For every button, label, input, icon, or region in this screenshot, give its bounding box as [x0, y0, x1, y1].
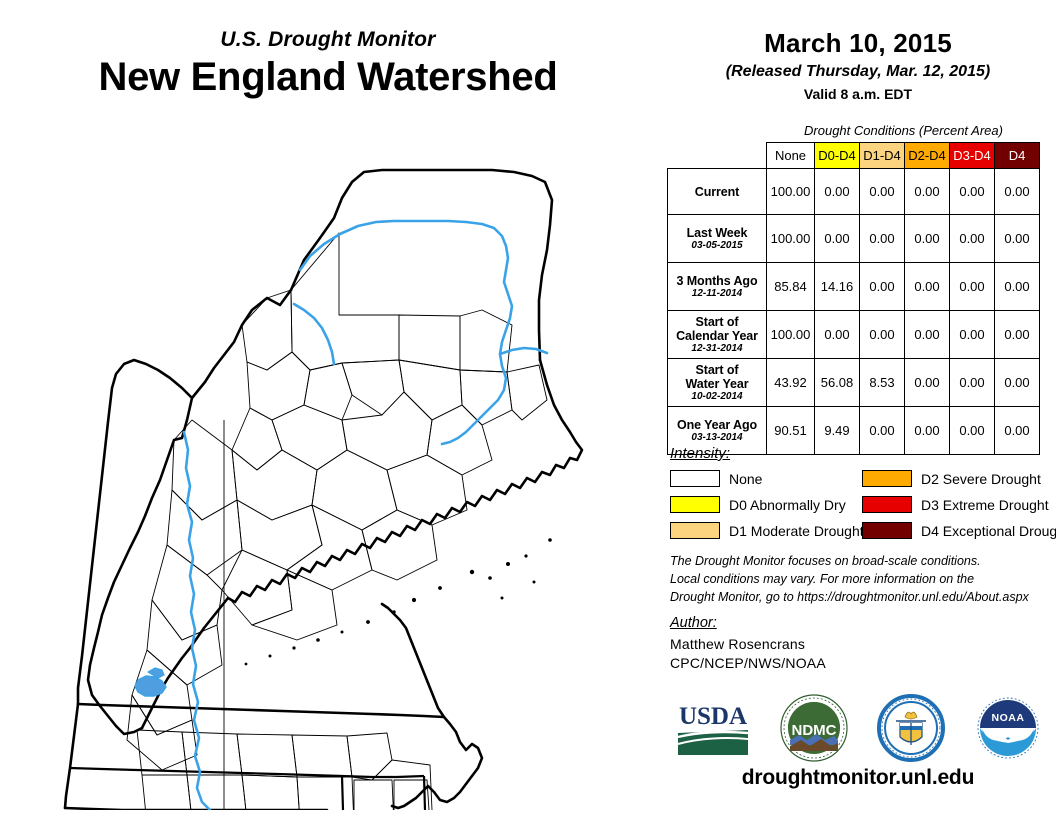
table-cell: 0.00 [950, 215, 995, 263]
author-block: Author: Matthew Rosencrans CPC/NCEP/NWS/… [670, 615, 1050, 673]
table-cell: 14.16 [815, 263, 860, 311]
row-label: Current [668, 169, 767, 215]
table-cell: 0.00 [815, 169, 860, 215]
legend-label: D4 Exceptional Drought [921, 523, 1056, 539]
legend-swatch [862, 470, 912, 487]
release-date: (Released Thursday, Mar. 12, 2015) [660, 63, 1056, 81]
row-label-date: 10-02-2014 [668, 391, 766, 402]
drought-conditions-table: None D0-D4 D1-D4 D2-D4 D3-D4 D4 Current1… [667, 142, 1040, 455]
row-label-title: Current [668, 185, 766, 199]
row-label: 3 Months Ago12-11-2014 [668, 263, 767, 311]
noaa-logo: NOAA [973, 693, 1043, 763]
table-cell: 0.00 [950, 311, 995, 359]
drought-map[interactable] [42, 120, 656, 810]
drought-monitor-page: U.S. Drought Monitor New England Watersh… [0, 0, 1056, 816]
date-block: March 10, 2015 (Released Thursday, Mar. … [660, 28, 1056, 102]
table-cell: 0.00 [905, 359, 950, 407]
header-corner-blank [668, 143, 767, 169]
intensity-title: Intensity: [670, 445, 1050, 462]
table-cell: 56.08 [815, 359, 860, 407]
legend-label: D2 Severe Drought [921, 471, 1041, 487]
report-date: March 10, 2015 [660, 28, 1056, 59]
column-header-d3-d4: D3-D4 [950, 143, 995, 169]
row-label-date: 12-11-2014 [668, 288, 766, 299]
commerce-seal-logo [876, 693, 946, 763]
legend-label: D3 Extreme Drought [921, 497, 1049, 513]
legend-item: D3 Extreme Drought [862, 494, 1054, 515]
table-cell: 100.00 [767, 215, 815, 263]
column-header-d2-d4: D2-D4 [905, 143, 950, 169]
table-row: Last Week03-05-2015100.000.000.000.000.0… [668, 215, 1040, 263]
table-cell: 0.00 [815, 215, 860, 263]
row-label: Start ofWater Year10-02-2014 [668, 359, 767, 407]
legend-swatch [670, 496, 720, 513]
author-title: Author: [670, 615, 1050, 631]
disclaimer-line-3: Drought Monitor, go to https://droughtmo… [670, 589, 1050, 607]
table-cell: 0.00 [860, 215, 905, 263]
usda-logo-text: USDA [678, 703, 746, 730]
table-cell: 0.00 [995, 311, 1040, 359]
page-title: New England Watershed [0, 55, 656, 100]
disclaimer-line-2: Local conditions may vary. For more info… [670, 571, 1050, 589]
legend-item: D0 Abnormally Dry [670, 494, 862, 515]
ndmc-logo: NDMC [779, 693, 849, 763]
table-row: Start ofCalendar Year12-31-2014100.000.0… [668, 311, 1040, 359]
legend-swatch [862, 522, 912, 539]
legend-label: D1 Moderate Drought [729, 523, 864, 539]
row-label-title: Start ofCalendar Year [668, 315, 766, 343]
table-cell: 85.84 [767, 263, 815, 311]
row-label-date: 12-31-2014 [668, 343, 766, 354]
table-cell: 0.00 [950, 169, 995, 215]
row-label: Last Week03-05-2015 [668, 215, 767, 263]
table-cell: 0.00 [905, 215, 950, 263]
column-header-none: None [767, 143, 815, 169]
author-affiliation: CPC/NCEP/NWS/NOAA [670, 654, 1050, 673]
table-cell: 0.00 [995, 215, 1040, 263]
legend-item: D1 Moderate Drought [670, 520, 862, 541]
legend-grid: NoneD2 Severe DroughtD0 Abnormally DryD3… [670, 468, 1050, 541]
table-header-row: None D0-D4 D1-D4 D2-D4 D3-D4 D4 [668, 143, 1040, 169]
table-cell: 0.00 [995, 359, 1040, 407]
table-cell: 0.00 [995, 263, 1040, 311]
table-cell: 0.00 [815, 311, 860, 359]
row-label-date: 03-13-2014 [668, 432, 766, 443]
usda-logo: USDA [674, 697, 752, 759]
legend-label: None [729, 471, 762, 487]
table-cell: 100.00 [767, 311, 815, 359]
row-label-title: Start ofWater Year [668, 363, 766, 391]
row-label-title: 3 Months Ago [668, 274, 766, 288]
table-body: Current100.000.000.000.000.000.00Last We… [668, 169, 1040, 455]
column-header-d1-d4: D1-D4 [860, 143, 905, 169]
legend-item: None [670, 468, 862, 489]
table-cell: 100.00 [767, 169, 815, 215]
legend-item: D2 Severe Drought [862, 468, 1054, 489]
table-cell: 0.00 [860, 169, 905, 215]
intensity-legend: Intensity: NoneD2 Severe DroughtD0 Abnor… [670, 445, 1050, 541]
legend-swatch [670, 522, 720, 539]
table-cell: 0.00 [950, 263, 995, 311]
table-row: Current100.000.000.000.000.000.00 [668, 169, 1040, 215]
table-row: Start ofWater Year10-02-201443.9256.088.… [668, 359, 1040, 407]
valid-time: Valid 8 a.m. EDT [660, 86, 1056, 102]
table-cell: 43.92 [767, 359, 815, 407]
page-subtitle: U.S. Drought Monitor [0, 28, 656, 51]
legend-label: D0 Abnormally Dry [729, 497, 846, 513]
column-header-d0-d4: D0-D4 [815, 143, 860, 169]
disclaimer-text: The Drought Monitor focuses on broad-sca… [670, 553, 1050, 606]
table-cell: 0.00 [905, 263, 950, 311]
row-label-date: 03-05-2015 [668, 240, 766, 251]
table-cell: 0.00 [860, 263, 905, 311]
column-header-d4: D4 [995, 143, 1040, 169]
legend-item: D4 Exceptional Drought [862, 520, 1054, 541]
table-row: 3 Months Ago12-11-201485.8414.160.000.00… [668, 263, 1040, 311]
table-cell: 8.53 [860, 359, 905, 407]
title-block: U.S. Drought Monitor New England Watersh… [0, 28, 656, 100]
table-cell: 0.00 [860, 311, 905, 359]
legend-swatch [670, 470, 720, 487]
table-cell: 0.00 [905, 169, 950, 215]
disclaimer-line-1: The Drought Monitor focuses on broad-sca… [670, 553, 1050, 571]
table-cell: 0.00 [995, 169, 1040, 215]
row-label-title: Last Week [668, 226, 766, 240]
noaa-logo-text: NOAA [991, 712, 1024, 724]
legend-swatch [862, 496, 912, 513]
table-cell: 0.00 [950, 359, 995, 407]
author-name: Matthew Rosencrans [670, 635, 1050, 654]
row-label: Start ofCalendar Year12-31-2014 [668, 311, 767, 359]
logo-row: USDA NDMC [660, 688, 1056, 768]
table-caption: Drought Conditions (Percent Area) [766, 123, 1041, 138]
site-url[interactable]: droughtmonitor.unl.edu [660, 766, 1056, 790]
row-label-title: One Year Ago [668, 418, 766, 432]
table-cell: 0.00 [905, 311, 950, 359]
